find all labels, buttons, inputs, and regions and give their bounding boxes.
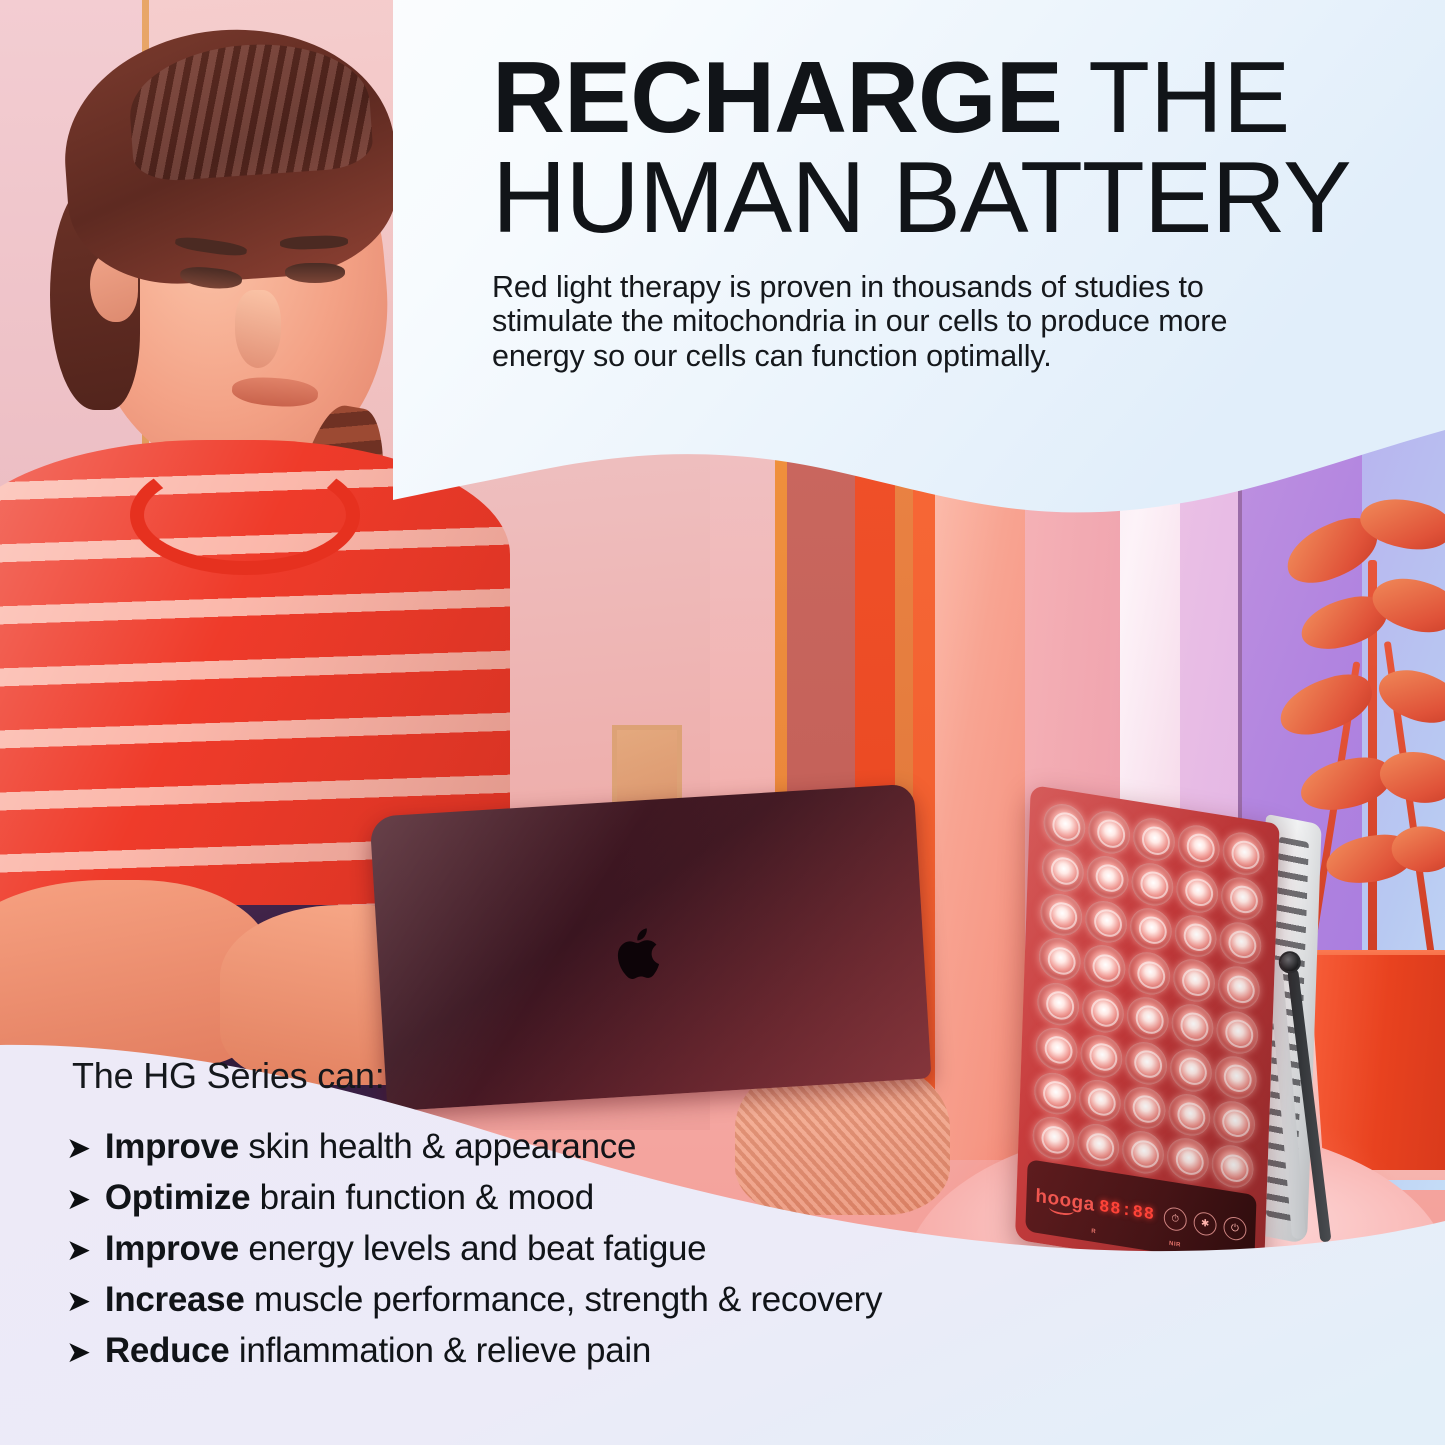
benefit-rest-text: skin health & appearance xyxy=(239,1127,636,1166)
benefits-title: The HG Series can: xyxy=(72,1055,385,1097)
benefit-item: ➤Increase muscle performance, strength &… xyxy=(66,1280,882,1320)
arrow-icon: ➤ xyxy=(66,1338,91,1368)
headline-line-1: RECHARGE THE xyxy=(492,52,1423,146)
header-block: RECHARGE THE HUMAN BATTERY Red light the… xyxy=(0,0,1445,430)
benefit-lead-word: Increase xyxy=(105,1280,245,1319)
benefit-text: Reduce inflammation & relieve pain xyxy=(105,1331,651,1371)
headline-recharge: RECHARGE xyxy=(492,42,1062,154)
benefit-text: Improve skin health & appearance xyxy=(105,1127,636,1167)
arrow-icon: ➤ xyxy=(66,1185,91,1215)
benefit-text: Increase muscle performance, strength & … xyxy=(105,1280,882,1320)
benefit-item: ➤Improve skin health & appearance xyxy=(66,1127,882,1167)
benefit-rest-text: energy levels and beat fatigue xyxy=(239,1229,706,1268)
benefit-rest-text: muscle performance, strength & recovery xyxy=(245,1280,883,1319)
benefit-item: ➤Improve energy levels and beat fatigue xyxy=(66,1229,882,1269)
header-subtext: Red light therapy is proven in thousands… xyxy=(492,270,1322,373)
apple-logo-icon xyxy=(611,921,669,986)
benefit-rest-text: inflammation & relieve pain xyxy=(229,1331,651,1370)
promo-graphic: hooga 88:88 R NIR ⏱ ✱ xyxy=(0,0,1445,1445)
headline-the: THE xyxy=(1062,42,1290,154)
benefits-list: ➤Improve skin health & appearance➤Optimi… xyxy=(66,1127,882,1382)
benefit-item: ➤Optimize brain function & mood xyxy=(66,1178,882,1218)
arrow-icon: ➤ xyxy=(66,1236,91,1266)
benefit-text: Optimize brain function & mood xyxy=(105,1178,594,1218)
benefit-item: ➤Reduce inflammation & relieve pain xyxy=(66,1331,882,1371)
benefit-lead-word: Improve xyxy=(105,1127,239,1166)
benefit-lead-word: Improve xyxy=(105,1229,239,1268)
arrow-icon: ➤ xyxy=(66,1134,91,1164)
benefit-text: Improve energy levels and beat fatigue xyxy=(105,1229,706,1269)
benefit-rest-text: brain function & mood xyxy=(250,1178,594,1217)
arrow-icon: ➤ xyxy=(66,1287,91,1317)
kickstand-pivot-knob xyxy=(1278,951,1301,974)
benefit-lead-word: Optimize xyxy=(105,1178,250,1217)
benefit-lead-word: Reduce xyxy=(105,1331,230,1370)
benefits-block: The HG Series can: ➤Improve skin health … xyxy=(0,1045,1445,1445)
headline-line-2: HUMAN BATTERY xyxy=(492,152,1442,246)
